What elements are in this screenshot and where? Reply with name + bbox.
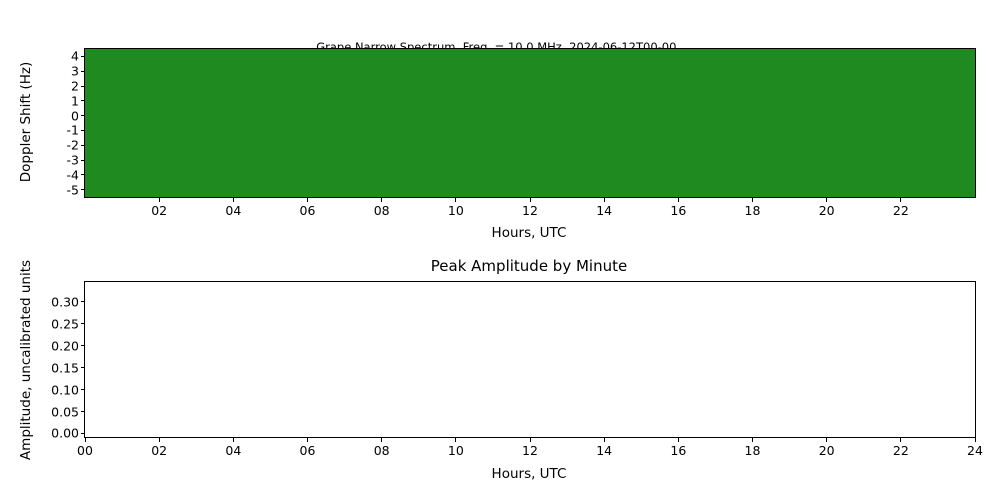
spectrogram-y-tick-mark xyxy=(81,56,85,57)
amplitude-x-tick-mark xyxy=(752,438,753,442)
spectrogram-x-tick-label: 08 xyxy=(374,203,390,218)
spectrogram-y-tick-label: -5 xyxy=(55,182,79,197)
amplitude-y-tick-label: 0.15 xyxy=(43,360,79,375)
amplitude-x-tick-mark xyxy=(159,438,160,442)
amplitude-y-tick-label: 0.25 xyxy=(43,316,79,331)
spectrogram-y-tick-mark xyxy=(81,160,85,161)
amplitude-x-tick-mark xyxy=(678,438,679,442)
amplitude-line-series xyxy=(85,282,975,437)
amplitude-x-tick-label: 02 xyxy=(151,443,167,458)
amplitude-x-tick-label: 24 xyxy=(967,443,983,458)
spectrogram-x-tick-mark xyxy=(307,198,308,202)
spectrogram-x-tick-mark xyxy=(900,198,901,202)
spectrogram-x-tick-mark xyxy=(752,198,753,202)
amplitude-y-tick-mark xyxy=(81,433,85,434)
spectrogram-x-tick-mark xyxy=(233,198,234,202)
amplitude-y-tick-label: 0.00 xyxy=(43,426,79,441)
amplitude-x-tick-mark xyxy=(381,438,382,442)
spectrogram-x-tick-label: 04 xyxy=(225,203,241,218)
amplitude-y-tick-mark xyxy=(81,301,85,302)
spectrogram-axes xyxy=(84,48,976,198)
spectrogram-x-tick-mark xyxy=(455,198,456,202)
amplitude-x-tick-label: 14 xyxy=(596,443,612,458)
amplitude-y-tick-label: 0.20 xyxy=(43,338,79,353)
spectrogram-y-tick-label: 0 xyxy=(55,108,79,123)
amplitude-plot-title: Peak Amplitude by Minute xyxy=(431,257,627,275)
amplitude-x-tick-label: 20 xyxy=(819,443,835,458)
spectrogram-x-tick-label: 02 xyxy=(151,203,167,218)
spectrogram-y-tick-mark xyxy=(81,189,85,190)
amplitude-x-tick-mark xyxy=(826,438,827,442)
amplitude-y-tick-mark xyxy=(81,345,85,346)
spectrogram-y-tick-label: -4 xyxy=(55,167,79,182)
amplitude-y-tick-mark xyxy=(81,389,85,390)
amplitude-x-tick-mark xyxy=(85,438,86,442)
spectrogram-y-tick-label: -3 xyxy=(55,153,79,168)
spectrogram-x-tick-label: 18 xyxy=(745,203,761,218)
amplitude-x-tick-label: 10 xyxy=(448,443,464,458)
spectrogram-y-tick-label: -2 xyxy=(55,138,79,153)
amplitude-y-tick-label: 0.10 xyxy=(43,382,79,397)
spectrogram-x-tick-mark xyxy=(678,198,679,202)
amplitude-x-tick-mark xyxy=(975,438,976,442)
amplitude-y-tick-label: 0.30 xyxy=(43,294,79,309)
spectrogram-y-tick-label: 1 xyxy=(55,93,79,108)
spectrogram-x-tick-label: 12 xyxy=(522,203,538,218)
amplitude-x-tick-mark xyxy=(455,438,456,442)
amplitude-y-tick-label: 0.05 xyxy=(43,404,79,419)
amplitude-x-tick-label: 12 xyxy=(522,443,538,458)
spectrogram-y-tick-label: 4 xyxy=(55,49,79,64)
spectrogram-y-tick-label: -1 xyxy=(55,123,79,138)
amplitude-x-tick-label: 04 xyxy=(225,443,241,458)
spectrogram-y-tick-mark xyxy=(81,86,85,87)
spectrogram-y-tick-label: 3 xyxy=(55,64,79,79)
amplitude-x-axis-label: Hours, UTC xyxy=(492,466,567,482)
spectrogram-x-tick-mark xyxy=(530,198,531,202)
amplitude-x-tick-mark xyxy=(530,438,531,442)
amplitude-x-tick-label: 06 xyxy=(300,443,316,458)
amplitude-y-tick-mark xyxy=(81,323,85,324)
spectrogram-y-tick-mark xyxy=(81,174,85,175)
amplitude-y-tick-mark xyxy=(81,411,85,412)
spectrogram-x-tick-label: 16 xyxy=(670,203,686,218)
spectrogram-y-tick-mark xyxy=(81,145,85,146)
spectrogram-x-tick-label: 06 xyxy=(300,203,316,218)
spectrogram-x-tick-label: 20 xyxy=(819,203,835,218)
spectrogram-image xyxy=(85,49,975,197)
spectrogram-y-tick-mark xyxy=(81,130,85,131)
spectrogram-x-tick-mark xyxy=(826,198,827,202)
spectrogram-x-tick-label: 22 xyxy=(893,203,909,218)
spectrogram-x-tick-label: 10 xyxy=(448,203,464,218)
spectrogram-x-axis-label: Hours, UTC xyxy=(492,225,567,241)
amplitude-x-tick-label: 08 xyxy=(374,443,390,458)
spectrogram-y-tick-mark xyxy=(81,100,85,101)
spectrogram-x-tick-label: 14 xyxy=(596,203,612,218)
spectrogram-y-tick-label: 2 xyxy=(55,79,79,94)
matplotlib-figure: Grape Narrow Spectrum, Freq. = 10.0 MHz,… xyxy=(0,0,1000,500)
amplitude-y-tick-mark xyxy=(81,367,85,368)
amplitude-y-axis-label: Amplitude, uncalibrated units xyxy=(18,260,34,460)
spectrogram-x-tick-mark xyxy=(381,198,382,202)
spectrogram-y-tick-mark xyxy=(81,71,85,72)
amplitude-x-tick-mark xyxy=(604,438,605,442)
amplitude-x-tick-label: 00 xyxy=(77,443,93,458)
spectrogram-x-tick-mark xyxy=(604,198,605,202)
amplitude-x-tick-label: 16 xyxy=(670,443,686,458)
amplitude-x-tick-mark xyxy=(307,438,308,442)
spectrogram-y-axis-label: Doppler Shift (Hz) xyxy=(18,62,34,182)
amplitude-x-tick-label: 18 xyxy=(745,443,761,458)
amplitude-x-tick-mark xyxy=(900,438,901,442)
amplitude-axes xyxy=(84,281,976,438)
amplitude-x-tick-mark xyxy=(233,438,234,442)
amplitude-x-tick-label: 22 xyxy=(893,443,909,458)
spectrogram-x-tick-mark xyxy=(159,198,160,202)
spectrogram-y-tick-mark xyxy=(81,115,85,116)
